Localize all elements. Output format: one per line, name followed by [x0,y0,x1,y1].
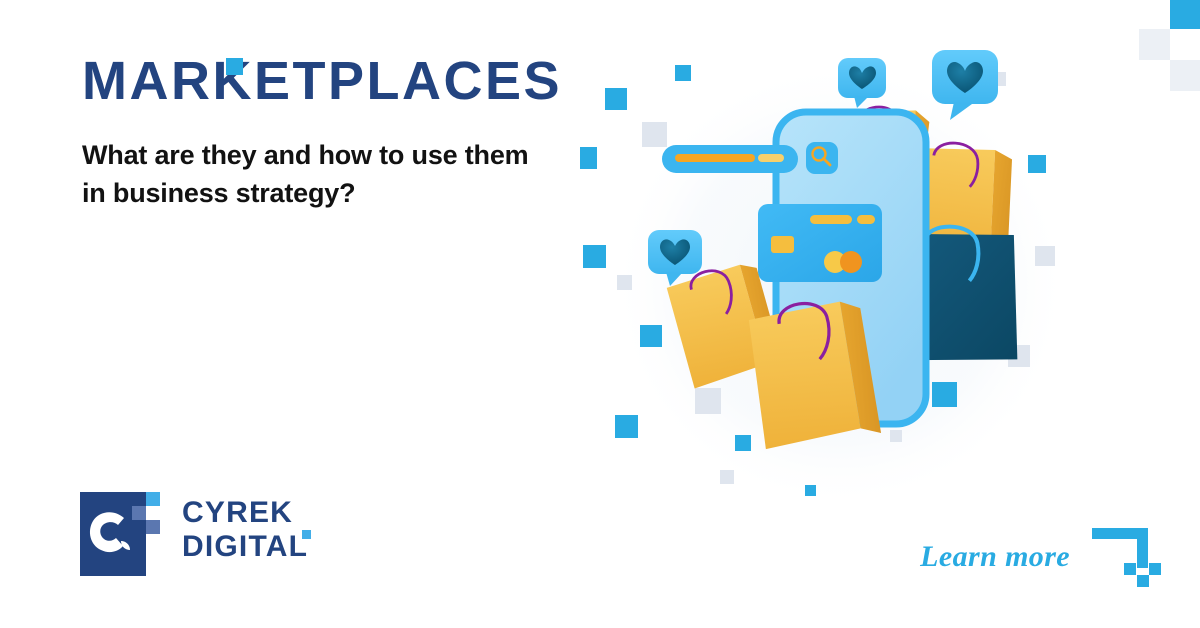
page-title-text: MARKETPLACES [82,51,562,111]
learn-more-cta[interactable]: Learn more [920,526,1162,588]
corner-square-grey-2 [1170,60,1200,91]
logo-mark-square-mid-2 [146,520,160,534]
search-button[interactable] [806,142,838,174]
logo-mark-square-light [146,492,160,506]
headline-block: MARKETPLACES What are they and how to us… [82,52,662,212]
page-subtitle: What are they and how to use them in bus… [82,136,662,212]
shopping-bag-yellow-center [748,299,882,450]
learn-more-label: Learn more [920,540,1070,574]
marketplace-shopping-illustration [580,30,1100,530]
logo-wordmark-accent-square [302,530,311,539]
logo-brand-line-1: CYREK [182,496,308,530]
page-title: MARKETPLACES [82,52,662,110]
corner-square-blue [1170,0,1200,29]
corner-square-grey-1 [1139,29,1170,60]
logo-lockup[interactable]: CYREK DIGITAL [80,484,308,576]
credit-card [758,204,882,282]
page-subtitle-line-1: What are they and how to use them [82,136,662,174]
page-subtitle-line-2: in business strategy? [82,174,662,212]
logo-wordmark: CYREK DIGITAL [182,496,308,564]
corner-arrow-icon [1092,526,1162,588]
logo-brand-line-2: DIGITAL [182,530,308,564]
banner-canvas: MARKETPLACES What are they and how to us… [0,0,1200,628]
logo-mark-glyph [80,492,146,576]
title-accent-square [226,58,243,75]
cyrek-c-swoosh-icon [80,484,164,576]
search-bar [662,145,798,173]
